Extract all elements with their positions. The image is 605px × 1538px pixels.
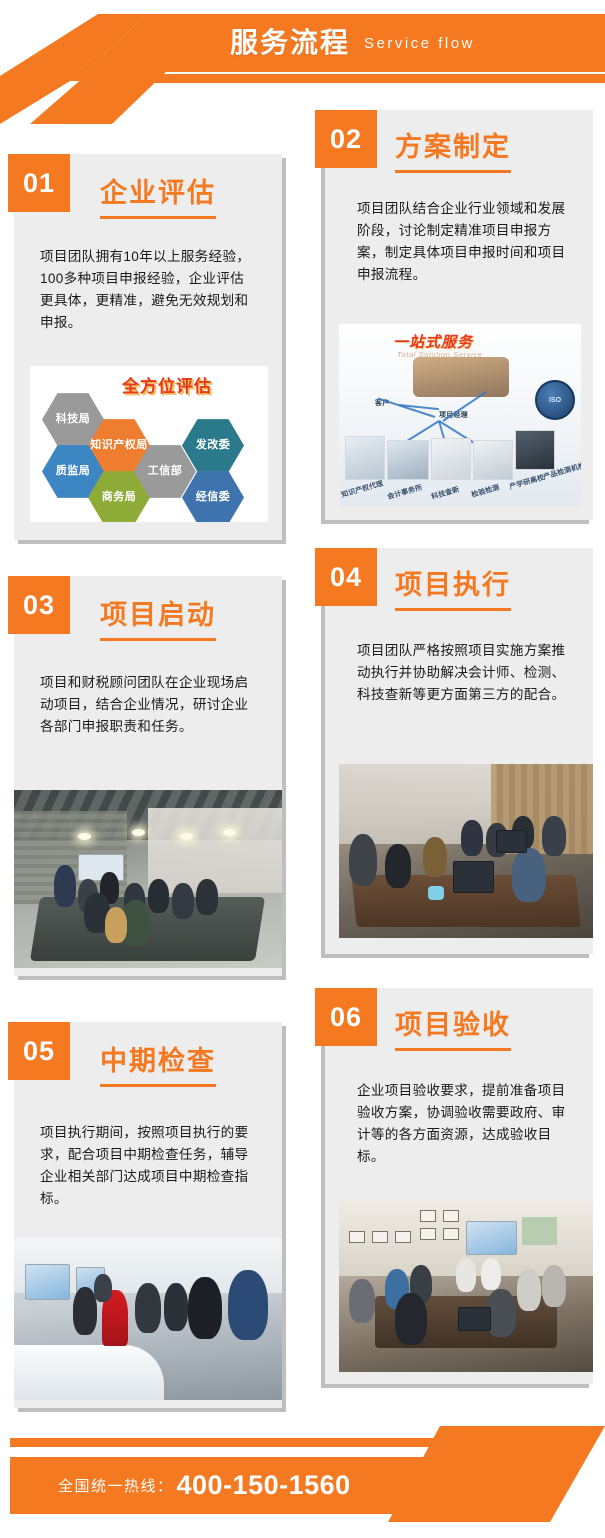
service-thumb-search bbox=[431, 438, 471, 480]
step-number-badge: 03 bbox=[8, 576, 70, 634]
certificate-frame bbox=[372, 1231, 388, 1243]
page-header: 服务流程 Service flow bbox=[0, 0, 605, 118]
bag bbox=[428, 886, 444, 900]
person bbox=[461, 820, 483, 856]
laptop bbox=[496, 830, 526, 853]
service-graphic-title: 一站式服务 bbox=[393, 331, 473, 352]
hotline-label: 全国统一热线： bbox=[58, 1475, 174, 1496]
ceiling-light bbox=[180, 833, 193, 840]
service-thumb-university bbox=[515, 430, 555, 470]
person bbox=[105, 907, 127, 943]
laptop bbox=[458, 1307, 491, 1331]
step-card-03[interactable]: 03 项目启动 项目和财税顾问团队在企业现场启动项目，结合企业情况，研讨企业各部… bbox=[14, 576, 282, 976]
hotline-number[interactable]: 400-150-1560 bbox=[177, 1470, 351, 1501]
step-description: 项目执行期间，按照项目执行的要求，配合项目中期检查任务，辅导企业相关部门达成项目… bbox=[40, 1122, 254, 1210]
person-black-jacket bbox=[188, 1277, 222, 1339]
person bbox=[481, 1258, 501, 1290]
step-description: 项目团队结合企业行业领域和发展阶段，讨论制定精准项目申报方案，制定具体项目申报时… bbox=[357, 198, 571, 286]
person bbox=[395, 1293, 427, 1345]
service-hub-photo bbox=[413, 357, 509, 397]
step-card-02[interactable]: 02 方案制定 项目团队结合企业行业领域和发展阶段，讨论制定精准项目申报方案，制… bbox=[325, 110, 593, 520]
step-description: 项目团队拥有10年以上服务经验，100多种项目申报经验，企业评估更具体，更精准，… bbox=[40, 246, 254, 334]
person bbox=[135, 1283, 161, 1333]
step-card-01[interactable]: 01 企业评估 项目团队拥有10年以上服务经验，100多种项目申报经验，企业评估… bbox=[14, 154, 282, 540]
one-stop-service-graphic: 一站式服务 Total Solution Service 客户 项目经理 ISO… bbox=[339, 324, 581, 506]
laptop bbox=[453, 861, 494, 892]
step-title: 项目执行 bbox=[395, 572, 511, 611]
header-title-group: 服务流程 Service flow bbox=[0, 14, 605, 72]
page-footer: 全国统一热线： 400-150-1560 bbox=[0, 1400, 605, 1538]
service-item-label: 知识产权代理 bbox=[340, 478, 384, 500]
projection-screen bbox=[466, 1221, 517, 1255]
certificate-frame bbox=[443, 1228, 459, 1240]
certificate-frame bbox=[420, 1228, 436, 1240]
person bbox=[542, 816, 566, 856]
step-title: 项目启动 bbox=[100, 602, 216, 641]
wall-panel bbox=[522, 1217, 558, 1245]
project-acceptance-meeting-photo bbox=[339, 1200, 593, 1372]
person bbox=[349, 1279, 375, 1323]
person bbox=[456, 1258, 476, 1292]
service-item-label: 检验检测 bbox=[470, 482, 500, 500]
person bbox=[172, 883, 194, 919]
midterm-inspection-site-photo bbox=[14, 1238, 282, 1400]
step-number-badge: 04 bbox=[315, 548, 377, 606]
white-wall bbox=[148, 808, 282, 893]
iso-seal-icon: ISO bbox=[535, 380, 575, 420]
person bbox=[542, 1265, 566, 1307]
person bbox=[423, 837, 447, 877]
all-round-assessment-diagram: 全方位评估 科技局 知识产权局 质监局 商务局 工信部 发改委 bbox=[30, 366, 268, 522]
person bbox=[164, 1283, 188, 1331]
person bbox=[54, 865, 76, 907]
service-flow-page: 服务流程 Service flow 01 企业评估 项目团队拥有10年以上服务经… bbox=[0, 0, 605, 1538]
service-thumb-ip bbox=[345, 436, 385, 480]
page-subtitle: Service flow bbox=[364, 36, 475, 51]
step-card-06[interactable]: 06 项目验收 企业项目验收要求，提前准备项目验收方案，协调验收需要政府、审计等… bbox=[325, 988, 593, 1384]
step-title: 中期检查 bbox=[100, 1048, 216, 1087]
person bbox=[196, 879, 218, 915]
step-number-badge: 02 bbox=[315, 110, 377, 168]
person bbox=[148, 879, 169, 913]
person-blue-shirt bbox=[512, 848, 546, 902]
step-description: 企业项目验收要求，提前准备项目验收方案，协调验收需要政府、审计等的各方面资源，达… bbox=[357, 1080, 571, 1168]
service-thumb-testing bbox=[473, 440, 513, 480]
step-card-05[interactable]: 05 中期检查 项目执行期间，按照项目执行的要求，配合项目中期检查任务，辅导企业… bbox=[14, 1022, 282, 1408]
footer-hotline: 全国统一热线： 400-150-1560 bbox=[0, 1457, 585, 1514]
certificate-frame bbox=[349, 1231, 365, 1243]
person bbox=[517, 1269, 541, 1311]
service-item-label: 科技查新 bbox=[430, 484, 460, 502]
step-title: 方案制定 bbox=[395, 134, 511, 173]
step-title: 企业评估 bbox=[100, 180, 216, 219]
step-number-badge: 01 bbox=[8, 154, 70, 212]
step-number-badge: 05 bbox=[8, 1022, 70, 1080]
step-description: 项目和财税顾问团队在企业现场启动项目，结合企业情况，研讨企业各部门申报职责和任务… bbox=[40, 672, 254, 738]
step-number-badge: 06 bbox=[315, 988, 377, 1046]
certificate-frame bbox=[420, 1210, 436, 1222]
service-item-label: 产学研高校 bbox=[508, 472, 545, 492]
person-blue-jacket bbox=[228, 1270, 268, 1340]
person bbox=[73, 1287, 97, 1335]
ceiling-light bbox=[78, 833, 91, 840]
service-thumb-accounting bbox=[387, 440, 429, 480]
step-card-04[interactable]: 04 项目执行 项目团队严格按照项目实施方案推动执行并协助解决会计师、检测、科技… bbox=[325, 548, 593, 954]
hex-diagram-title: 全方位评估 bbox=[122, 372, 212, 397]
person bbox=[94, 1274, 112, 1302]
display-screen bbox=[25, 1264, 71, 1300]
page-title: 服务流程 bbox=[230, 29, 350, 57]
project-kickoff-meeting-photo bbox=[14, 790, 282, 968]
step-description: 项目团队严格按照项目实施方案推动执行并协助解决会计师、检测、科技查新等更方面第三… bbox=[357, 640, 571, 706]
reception-counter bbox=[14, 1345, 164, 1400]
step-title: 项目验收 bbox=[395, 1012, 511, 1051]
person bbox=[349, 834, 377, 886]
person bbox=[385, 844, 411, 888]
certificate-frame bbox=[443, 1210, 459, 1222]
project-execution-workshop-photo bbox=[339, 764, 593, 938]
service-item-label: 会计事务所 bbox=[386, 482, 423, 502]
certificate-frame bbox=[395, 1231, 411, 1243]
